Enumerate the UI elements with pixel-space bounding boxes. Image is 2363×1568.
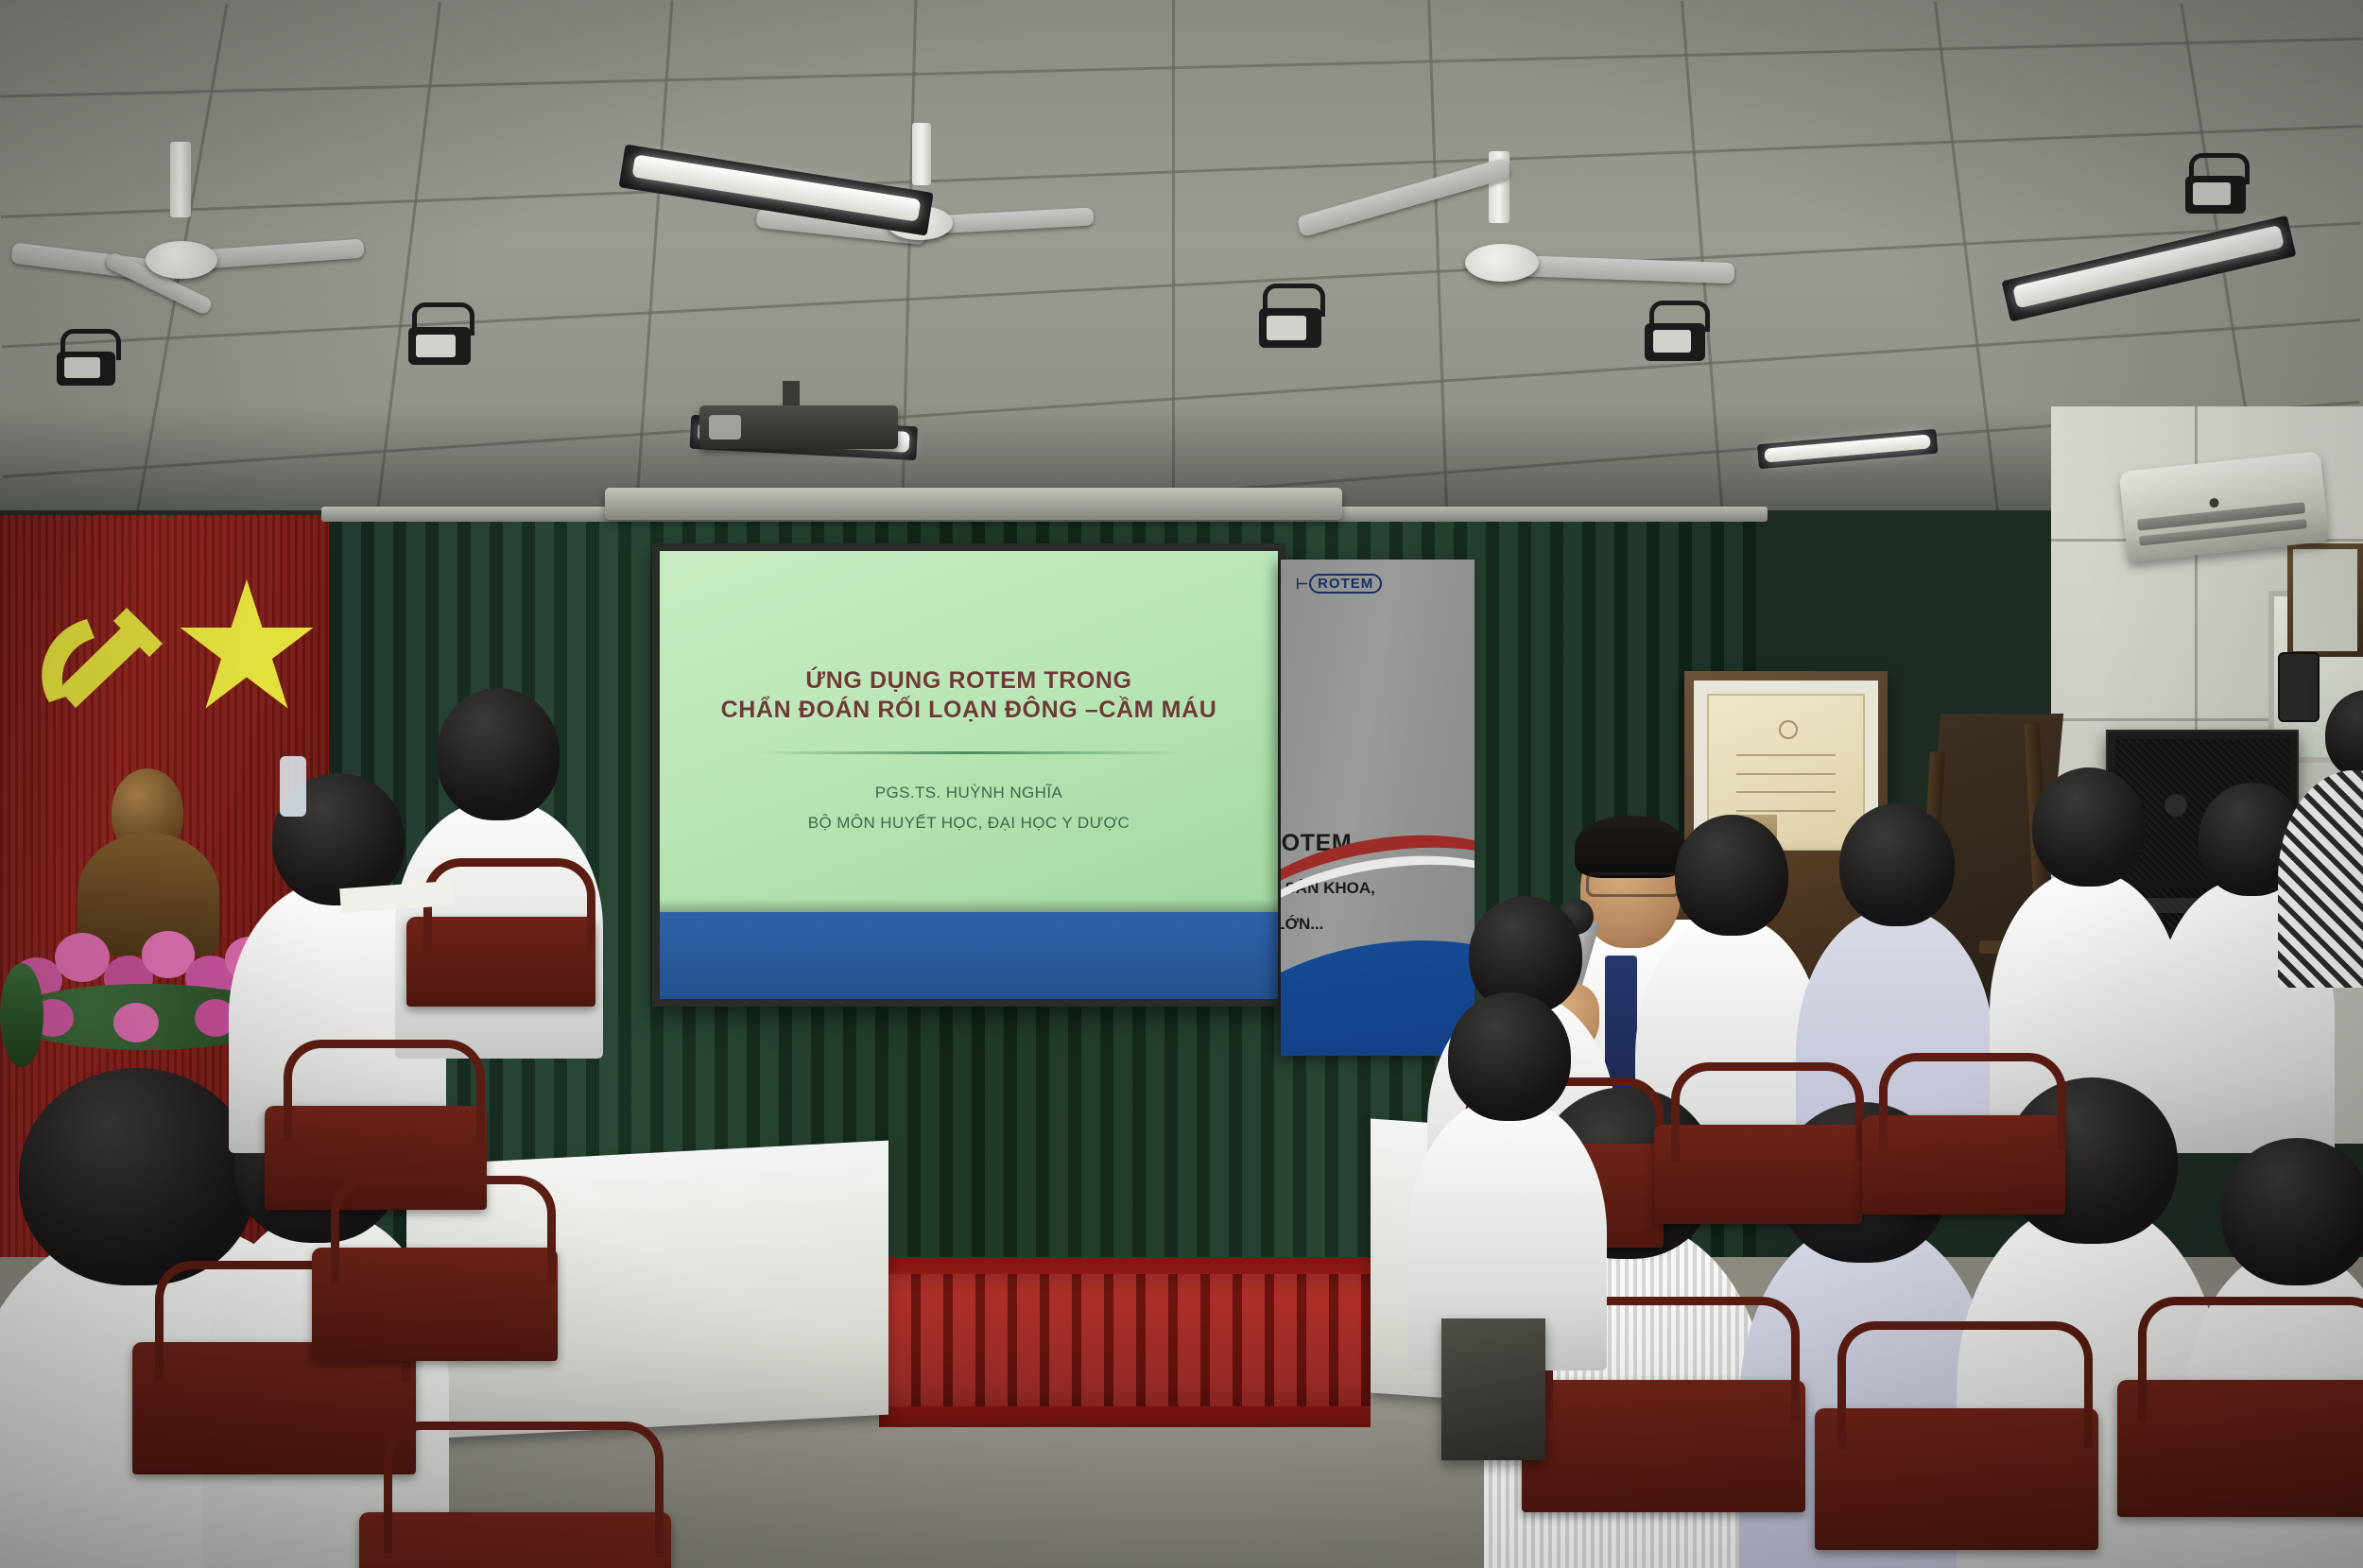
five-pointed-star-icon: [176, 576, 318, 714]
projected-slide: ỨNG DỤNG ROTEM TRONG CHẨN ĐOÁN RỐI LOẠN …: [660, 551, 1278, 999]
ceiling-fan-right: [1361, 217, 1777, 312]
spotlight-2: [57, 329, 121, 397]
chair: [312, 1248, 558, 1361]
attendee-head: [2221, 1138, 2363, 1285]
screen-roller-housing: [605, 488, 1342, 520]
presenter-hair: [1575, 816, 1686, 878]
water-bottle: [280, 756, 306, 817]
slide-bottom-shadow: [660, 899, 1278, 912]
spotlight-1: [406, 302, 476, 376]
slide-divider-rule: [754, 751, 1183, 754]
ceiling-fan-left: [28, 213, 340, 298]
slide-title-line-1: ỨNG DỤNG ROTEM TRONG: [660, 666, 1278, 696]
slide-affiliation: BỘ MÔN HUYẾT HỌC, ĐẠI HỌC Y DƯỢC: [660, 808, 1278, 838]
slide-subtitle-block: PGS.TS. HUỲNH NGHĨA BỘ MÔN HUYẾT HỌC, ĐẠ…: [660, 778, 1278, 839]
attendee-head: [2032, 767, 2146, 887]
certificate-seal-icon: [1779, 720, 1798, 739]
chair: [2117, 1380, 2363, 1517]
slide-title-line-2: CHẨN ĐOÁN RỐI LOẠN ĐÔNG –CẦM MÁU: [660, 696, 1278, 725]
attendee-head: [19, 1068, 255, 1285]
attendee-head: [1839, 803, 1955, 926]
floor-stool: [1441, 1318, 1545, 1460]
mobile-phone: [2278, 652, 2320, 722]
chair: [1862, 1115, 2065, 1215]
seated-attendee-near-presenter: [1408, 983, 1635, 1361]
slide-presenter: PGS.TS. HUỲNH NGHĨA: [660, 778, 1278, 808]
ceiling-projector: [699, 402, 898, 468]
hammer-and-sickle-icon: [21, 591, 181, 723]
stage-skirt-pleats: [879, 1274, 1371, 1406]
presenter-glasses-icon: [1586, 872, 1681, 897]
spotlight-5: [2183, 153, 2251, 227]
banner-logo: ⊢ROTEM: [1296, 575, 1382, 592]
spotlight-4: [1645, 301, 1711, 374]
framed-photo-wall: [2287, 543, 2363, 657]
chair: [406, 917, 595, 1007]
banner-logo-text: ROTEM: [1309, 574, 1382, 594]
attendee-head: [1675, 815, 1788, 936]
spotlight-3: [1257, 284, 1327, 361]
chair: [1654, 1125, 1862, 1224]
attendee-head: [1448, 992, 1571, 1121]
ceiling: [0, 0, 2363, 529]
slide-title: ỨNG DỤNG ROTEM TRONG CHẨN ĐOÁN RỐI LOẠN …: [660, 666, 1278, 724]
conference-photo: ỨNG DỤNG ROTEM TRONG CHẨN ĐOÁN RỐI LOẠN …: [0, 0, 2363, 1568]
seated-attendees-left: [0, 936, 926, 1568]
stage-skirt: [879, 1257, 1371, 1427]
chair: [359, 1512, 671, 1568]
attendee-head: [437, 688, 560, 820]
chair: [1522, 1380, 1805, 1512]
chair: [1815, 1408, 2098, 1550]
chair: [132, 1342, 416, 1474]
